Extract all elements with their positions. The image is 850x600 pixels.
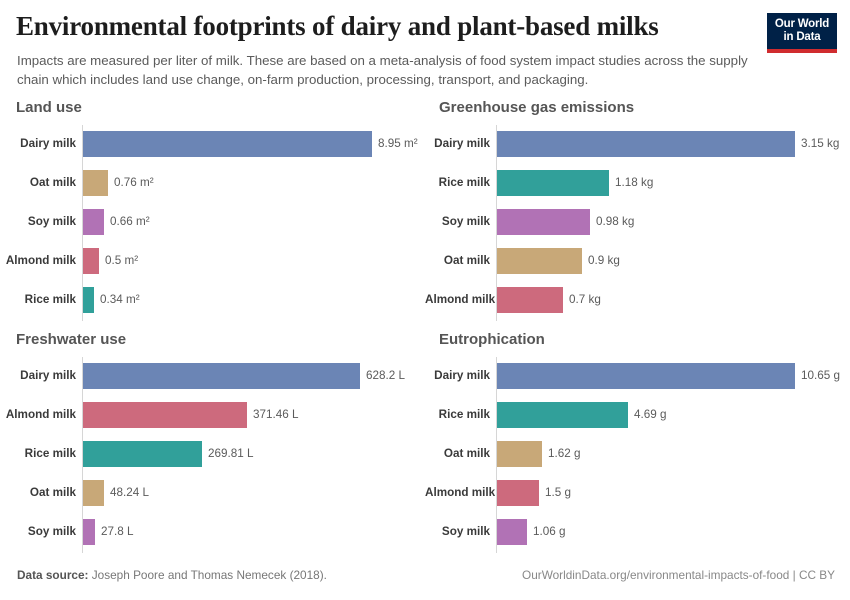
bar-row[interactable]: Rice milk1.18 kg [425, 170, 845, 196]
category-label: Dairy milk [2, 131, 76, 157]
category-label: Rice milk [2, 287, 76, 313]
bar-row[interactable]: Oat milk0.76 m² [2, 170, 422, 196]
bar-value-label: 48.24 L [110, 480, 149, 506]
page-title: Environmental footprints of dairy and pl… [16, 11, 659, 42]
category-label: Soy milk [2, 209, 76, 235]
bar[interactable] [83, 248, 99, 274]
bar-row[interactable]: Oat milk48.24 L [2, 480, 422, 506]
bar-value-label: 0.7 kg [569, 287, 601, 313]
plot-area: Dairy milk8.95 m²Oat milk0.76 m²Soy milk… [2, 125, 422, 321]
owid-logo-line1: Our World [767, 18, 837, 31]
bar[interactable] [497, 131, 795, 157]
data-source: Data source: Joseph Poore and Thomas Nem… [17, 568, 327, 582]
bar-value-label: 0.34 m² [100, 287, 140, 313]
bar[interactable] [497, 402, 628, 428]
chart-panels: Land useDairy milk8.95 m²Oat milk0.76 m²… [0, 96, 850, 552]
bar[interactable] [497, 287, 563, 313]
category-label: Oat milk [425, 248, 490, 274]
chart-panel-2: Greenhouse gas emissionsDairy milk3.15 k… [425, 96, 845, 324]
bar-row[interactable]: Soy milk0.66 m² [2, 209, 422, 235]
bar[interactable] [83, 519, 95, 545]
bar-value-label: 1.18 kg [615, 170, 653, 196]
bar-value-label: 269.81 L [208, 441, 254, 467]
bar-value-label: 0.9 kg [588, 248, 620, 274]
bar-row[interactable]: Almond milk0.7 kg [425, 287, 845, 313]
bar-value-label: 0.66 m² [110, 209, 150, 235]
bar[interactable] [83, 402, 247, 428]
bar[interactable] [497, 248, 582, 274]
bar[interactable] [83, 363, 360, 389]
bar[interactable] [497, 519, 527, 545]
bar-row[interactable]: Dairy milk8.95 m² [2, 131, 422, 157]
bar-value-label: 10.65 g [801, 363, 840, 389]
data-source-text: Joseph Poore and Thomas Nemecek (2018). [92, 568, 327, 582]
panel-title: Eutrophication [439, 331, 545, 348]
bar-value-label: 1.06 g [533, 519, 566, 545]
chart-header: Environmental footprints of dairy and pl… [0, 0, 850, 96]
bar[interactable] [83, 480, 104, 506]
category-label: Almond milk [425, 287, 490, 313]
bar-value-label: 1.62 g [548, 441, 581, 467]
bar-row[interactable]: Oat milk0.9 kg [425, 248, 845, 274]
category-label: Soy milk [425, 209, 490, 235]
bar-row[interactable]: Rice milk0.34 m² [2, 287, 422, 313]
bar-row[interactable]: Dairy milk3.15 kg [425, 131, 845, 157]
bar[interactable] [83, 287, 94, 313]
bar[interactable] [83, 131, 372, 157]
category-label: Rice milk [425, 402, 490, 428]
owid-logo[interactable]: Our World in Data [767, 13, 837, 53]
bar[interactable] [83, 170, 108, 196]
owid-logo-line2: in Data [767, 31, 837, 44]
bar-value-label: 0.98 kg [596, 209, 634, 235]
category-label: Oat milk [2, 480, 76, 506]
bar-value-label: 3.15 kg [801, 131, 839, 157]
bar-row[interactable]: Oat milk1.62 g [425, 441, 845, 467]
bar-value-label: 628.2 L [366, 363, 405, 389]
chart-panel-1: Land useDairy milk8.95 m²Oat milk0.76 m²… [2, 96, 422, 324]
bar-value-label: 27.8 L [101, 519, 134, 545]
bar-row[interactable]: Dairy milk628.2 L [2, 363, 422, 389]
data-source-label: Data source: [17, 568, 88, 582]
category-label: Soy milk [425, 519, 490, 545]
bar-row[interactable]: Dairy milk10.65 g [425, 363, 845, 389]
bar[interactable] [497, 209, 590, 235]
attribution-link[interactable]: OurWorldinData.org/environmental-impacts… [522, 568, 835, 582]
category-label: Soy milk [2, 519, 76, 545]
bar-value-label: 0.5 m² [105, 248, 138, 274]
bar-row[interactable]: Soy milk27.8 L [2, 519, 422, 545]
category-label: Dairy milk [425, 363, 490, 389]
panel-title: Greenhouse gas emissions [439, 99, 634, 116]
bar[interactable] [497, 170, 609, 196]
page-subtitle: Impacts are measured per liter of milk. … [17, 51, 759, 89]
category-label: Dairy milk [425, 131, 490, 157]
bar[interactable] [83, 209, 104, 235]
bar[interactable] [497, 441, 542, 467]
bar[interactable] [497, 480, 539, 506]
plot-area: Dairy milk628.2 LAlmond milk371.46 LRice… [2, 357, 422, 553]
panel-title: Freshwater use [16, 331, 126, 348]
category-label: Almond milk [2, 402, 76, 428]
plot-area: Dairy milk3.15 kgRice milk1.18 kgSoy mil… [425, 125, 845, 321]
category-label: Almond milk [2, 248, 76, 274]
category-label: Almond milk [425, 480, 490, 506]
panel-title: Land use [16, 99, 82, 116]
bar-value-label: 0.76 m² [114, 170, 154, 196]
bar-row[interactable]: Rice milk269.81 L [2, 441, 422, 467]
bar-row[interactable]: Almond milk0.5 m² [2, 248, 422, 274]
bar-value-label: 4.69 g [634, 402, 667, 428]
bar-value-label: 371.46 L [253, 402, 299, 428]
bar-row[interactable]: Soy milk1.06 g [425, 519, 845, 545]
bar-row[interactable]: Rice milk4.69 g [425, 402, 845, 428]
bar-row[interactable]: Almond milk371.46 L [2, 402, 422, 428]
bar-row[interactable]: Almond milk1.5 g [425, 480, 845, 506]
chart-panel-3: Freshwater useDairy milk628.2 LAlmond mi… [2, 328, 422, 556]
chart-panel-4: EutrophicationDairy milk10.65 gRice milk… [425, 328, 845, 556]
bar[interactable] [83, 441, 202, 467]
category-label: Oat milk [2, 170, 76, 196]
category-label: Oat milk [425, 441, 490, 467]
category-label: Dairy milk [2, 363, 76, 389]
bar-row[interactable]: Soy milk0.98 kg [425, 209, 845, 235]
chart-footer: Data source: Joseph Poore and Thomas Nem… [0, 552, 850, 600]
category-label: Rice milk [425, 170, 490, 196]
bar-value-label: 8.95 m² [378, 131, 418, 157]
plot-area: Dairy milk10.65 gRice milk4.69 gOat milk… [425, 357, 845, 553]
bar[interactable] [497, 363, 795, 389]
bar-value-label: 1.5 g [545, 480, 571, 506]
category-label: Rice milk [2, 441, 76, 467]
